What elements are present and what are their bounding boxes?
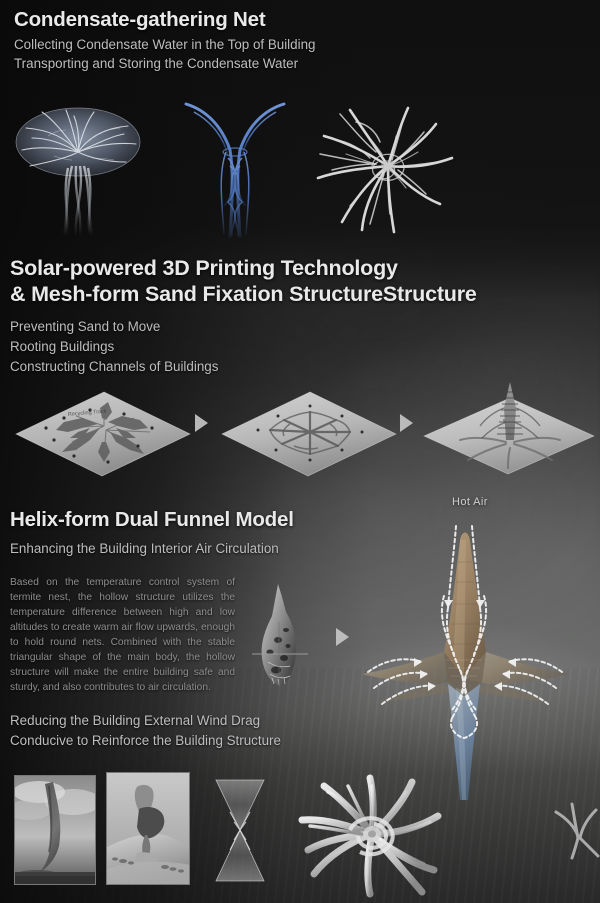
spiral-structure-model (288, 772, 458, 900)
mushroom-rock-photo (106, 772, 190, 885)
section-1-heading: Condensate-gathering Net (14, 8, 265, 31)
process-arrow-3 (336, 628, 349, 646)
spiral-net-top-view (310, 96, 470, 241)
section-1-subtitle-2: Transporting and Storing the Condensate … (14, 55, 298, 74)
section-2-heading-line2: & Mesh-form Sand Fixation StructureStruc… (10, 282, 477, 306)
hourglass-diagram (212, 778, 268, 883)
section-1-subtitle-1: Collecting Condensate Water in the Top o… (14, 36, 315, 55)
process-arrow-1 (195, 414, 208, 432)
hot-air-label: Hot Air (452, 496, 488, 508)
section-3-body-text: Based on the temperature control system … (10, 576, 235, 696)
presentation-board: Condensate-gathering Net Collecting Cond… (0, 0, 600, 903)
section-3-subtitle-lower-1: Reducing the Building External Wind Drag (10, 712, 260, 731)
tornado-photo (14, 775, 96, 885)
section-2-subtitle-2: Rooting Buildings (10, 338, 114, 357)
sand-plate-building (418, 378, 598, 478)
section-3-subtitle-lower-2: Conducive to Reinforce the Building Stru… (10, 732, 281, 751)
sand-plate-mesh (218, 388, 398, 478)
section-3-heading: Helix-form Dual Funnel Model (10, 508, 294, 531)
edge-structure-model (552, 800, 600, 860)
dual-funnel-building (356, 512, 600, 804)
section-2-subtitle-1: Preventing Sand to Move (10, 318, 160, 337)
section-2-heading-line1: Solar-powered 3D Printing Technology (10, 256, 398, 280)
process-arrow-2 (400, 414, 413, 432)
blue-funnel-diagram (180, 96, 290, 236)
sand-plate-roots: Recycling Track (12, 388, 192, 478)
section-2-subtitle-3: Constructing Channels of Buildings (10, 358, 218, 377)
canopy-net-render (8, 96, 158, 236)
section-3-subtitle: Enhancing the Building Interior Air Circ… (10, 540, 279, 559)
termite-nest-section (252, 582, 308, 687)
